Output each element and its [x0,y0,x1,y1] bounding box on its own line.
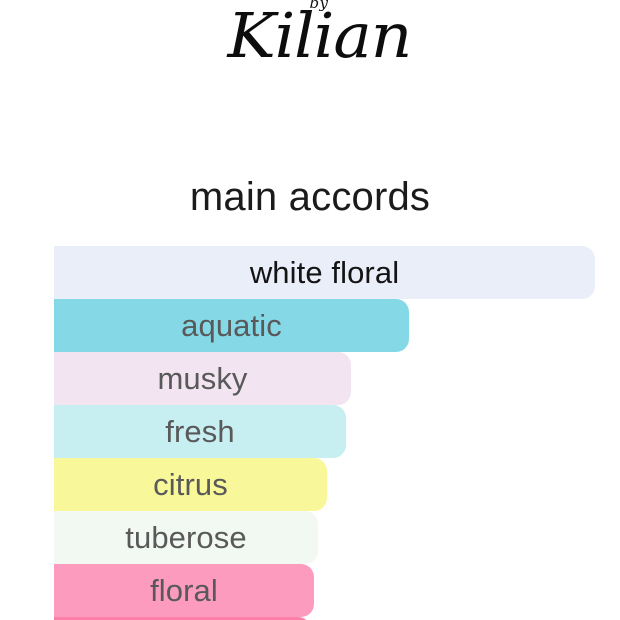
accord-bar[interactable]: citrus [54,458,327,511]
accord-row[interactable]: tuberose [54,511,620,564]
accord-label: musky [157,352,247,405]
accord-label: tuberose [125,511,246,564]
main-accords-page: by Kilian main accords white floralaquat… [0,0,620,620]
brand-name: Kilian [227,5,411,67]
accord-bar[interactable]: floral [54,564,314,617]
accord-bar[interactable]: fresh [54,405,346,458]
accord-label: floral [150,564,218,617]
accord-row[interactable]: aquatic [54,299,620,352]
accord-row[interactable]: fresh [54,405,620,458]
accord-row[interactable]: citrus [54,458,620,511]
accord-row[interactable]: white floral [54,246,620,299]
accord-bar[interactable]: white floral [54,246,595,299]
brand-logo: by Kilian [0,0,620,150]
accord-bar[interactable]: tuberose [54,511,318,564]
accord-row[interactable]: musky [54,352,620,405]
accord-bar[interactable]: aquatic [54,299,409,352]
brand-prefix: by [231,0,408,11]
accord-label: white floral [250,246,399,299]
brand-logo-inner: by Kilian [231,0,408,67]
main-accords-chart: white floralaquaticmuskyfreshcitrustuber… [54,246,620,620]
page-title: main accords [0,171,620,223]
accord-label: citrus [153,458,228,511]
accord-label: aquatic [181,299,282,352]
accord-row[interactable]: floral [54,564,620,617]
accord-bar[interactable]: musky [54,352,351,405]
accord-label: fresh [165,405,234,458]
